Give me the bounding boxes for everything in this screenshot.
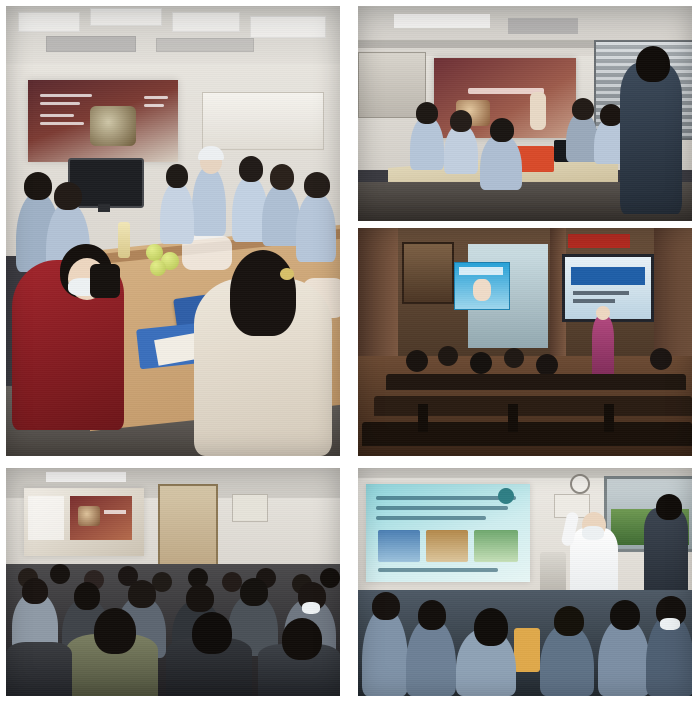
standing-staff-hair <box>656 494 682 520</box>
wall-poster <box>232 494 268 522</box>
audience-head-6 <box>650 348 672 370</box>
attendee-seated-3-hair <box>490 118 514 142</box>
wall-board <box>202 92 324 150</box>
slide-content <box>70 496 132 540</box>
slide-text-line <box>104 510 126 514</box>
attendee-left-2-hair <box>54 182 82 210</box>
audience-head-4 <box>504 348 524 368</box>
projection-screen <box>28 80 178 162</box>
audience-front-dark-2-hair <box>192 612 232 654</box>
photo-collage <box>0 0 700 702</box>
attendee-back-3-hair <box>270 164 294 190</box>
audience-mid-3-hair <box>128 580 156 608</box>
projection-screen <box>24 488 144 556</box>
presenter-mask <box>582 526 604 540</box>
tv-text-line-1 <box>573 291 629 295</box>
audience-head-far-10 <box>320 568 340 588</box>
pear-3 <box>150 260 166 276</box>
slide-photo-1 <box>378 530 420 562</box>
audience-mid-5-hair <box>240 578 268 606</box>
standing-person-foreground <box>620 62 682 214</box>
audience-mid-4-hair <box>186 584 214 612</box>
health-info-poster <box>454 262 510 310</box>
attendee-seated-2-hair <box>418 600 446 630</box>
audience-head-far-2 <box>50 564 70 584</box>
orange-stool <box>514 628 540 672</box>
wall-art-panel <box>402 242 454 304</box>
audience-front-dark-3-hair <box>282 618 322 660</box>
ceiling-light <box>46 472 126 482</box>
ceiling <box>6 6 340 64</box>
poster-headline <box>459 267 503 275</box>
attendee-seated-1-hair <box>372 592 400 620</box>
attendee-back-5 <box>160 182 194 244</box>
standing-person-hair <box>636 46 670 82</box>
ceiling-vent <box>508 18 578 34</box>
tv-stand <box>98 204 110 212</box>
chair-back-upright-3 <box>604 404 614 432</box>
chair-back-upright-2 <box>508 404 518 432</box>
attendee-back-4-hair <box>304 172 330 198</box>
slide-photo-inset <box>90 106 136 146</box>
attendee-left-1-hair <box>24 172 52 200</box>
red-sign <box>568 234 630 248</box>
slide-photo-2 <box>426 530 468 562</box>
attendee-mask-1 <box>660 618 680 630</box>
slide-text-line-2 <box>376 506 508 510</box>
attendee-seated-2-hair <box>450 110 472 132</box>
audience-mask-1 <box>302 602 320 614</box>
audience-mid-1-hair <box>22 578 48 604</box>
photo-lobby-health-talk-wooden-hall <box>358 228 692 456</box>
attendee-seated-5-hair <box>600 104 622 126</box>
attendee-cream-sweater-hair <box>230 250 296 336</box>
attendee-seated-5-hair <box>610 600 640 630</box>
attendee-back-3 <box>262 184 300 246</box>
attendee-seated-4-hair <box>572 98 594 120</box>
attendee-seated-1 <box>410 116 444 170</box>
presenter <box>592 316 614 380</box>
audience-head-3 <box>470 352 492 374</box>
audience-mid-2-hair <box>74 582 100 610</box>
chair-row-3 <box>362 422 692 446</box>
slide-text-line-1 <box>376 496 516 500</box>
audience-front-olive-hair <box>94 608 136 654</box>
slide-content <box>28 80 178 162</box>
audience-head-far-7 <box>222 572 242 592</box>
slide-figure <box>530 92 546 130</box>
tv-banner <box>571 267 645 285</box>
wood-column-left <box>358 228 398 368</box>
photo-classroom-presentation-standing-speaker <box>358 6 692 221</box>
attendee-seated-1-hair <box>416 102 438 124</box>
projection-screen <box>366 484 530 582</box>
drink-bottle <box>118 222 130 258</box>
attendee-seated-3 <box>480 134 522 190</box>
slide-text-line-3 <box>376 516 486 520</box>
attendee-seated-3-hair <box>474 608 508 646</box>
chair-row-1 <box>386 374 686 390</box>
hair-tie <box>280 268 294 280</box>
attendee-back-1 <box>192 166 226 236</box>
slide-photo-inset <box>78 506 100 526</box>
attendee-back-5-hair <box>166 164 188 188</box>
slide-text-line-4 <box>378 568 498 572</box>
photo-lecture-hall-large-audience-rear-view <box>6 468 340 696</box>
photo-meeting-room-projector-slide <box>6 6 340 456</box>
audience-head-5 <box>536 354 558 376</box>
poster-portrait <box>473 279 491 301</box>
audience-head-1 <box>406 350 428 372</box>
attendee-red-coat-bag <box>90 264 120 298</box>
presenter-head <box>596 306 610 320</box>
slide-photo-3 <box>474 530 518 562</box>
audience-head-2 <box>438 346 458 366</box>
attendee-back-2-hair <box>239 156 263 182</box>
attendee-seated-4-hair <box>554 606 584 636</box>
slide-logo <box>498 488 514 504</box>
audience-front-dark-1 <box>6 642 72 696</box>
tv-text-line-2 <box>573 299 615 303</box>
slide-sidebar <box>28 496 64 540</box>
chair-back-upright-1 <box>418 404 428 432</box>
wall-clock <box>570 474 590 494</box>
photo-demo-session-teal-slide-presenter <box>358 468 692 696</box>
wood-column-right <box>654 228 692 368</box>
ceiling-light <box>394 14 490 28</box>
